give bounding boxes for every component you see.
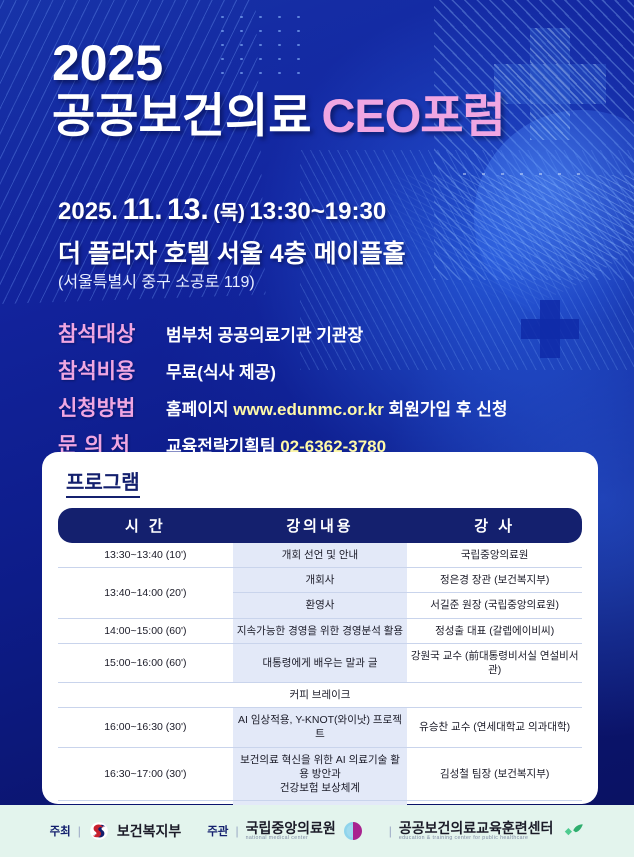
cell-time: 13:30~13:40 (10'): [58, 543, 233, 568]
event-poster: 2025 공공보건의료CEO포럼 2025. 11. 13. (목) 13:30…: [0, 0, 634, 857]
apply-prefix: 홈페이지: [166, 400, 233, 419]
cell-speaker: 강원국 교수 (前대통령비서실 연설비서관): [407, 643, 582, 682]
info-label-fee: 참석비용: [58, 355, 166, 385]
table-row: 14:00~15:00 (60') 지속가능한 경영을 위한 경영분석 활용 정…: [58, 618, 582, 643]
cell-content: 환영사: [233, 593, 408, 618]
info-value-fee: 무료(식사 제공): [166, 358, 276, 383]
cell-time: 14:00~15:00 (60'): [58, 618, 233, 643]
leaf-logo-icon: [560, 823, 584, 839]
government-taegeuk-icon: [88, 820, 110, 842]
apply-suffix: 회원가입 후 신청: [384, 400, 508, 419]
event-datetime: 2025. 11. 13. (목) 13:30~19:30: [58, 193, 386, 227]
cell-speaker: 정성출 대표 (갈렙에이비씨): [407, 618, 582, 643]
nmc-logo-icon: [343, 821, 363, 841]
program-card: 프로그램 시 간 강의내용 강 사 13:30~13:40 (10') 개회 선…: [42, 452, 598, 804]
dot-row-decoration: [455, 170, 595, 178]
cell-speaker: 정은경 장관 (보건복지부): [407, 568, 582, 593]
cell-time: 15:00~16:00 (60'): [58, 643, 233, 682]
info-value-audience: 범부처 공공의료기관 기관장: [166, 321, 363, 346]
medical-cross-small-icon: [521, 300, 579, 358]
center-name: 공공보건의료교육훈련센터: [399, 821, 554, 836]
event-time: 13:30~19:30: [249, 198, 386, 225]
center-name-group: 공공보건의료교육훈련센터 education & training center…: [399, 821, 554, 842]
table-row: 15:00~16:00 (60') 대통령에게 배우는 말과 글 강원국 교수 …: [58, 643, 582, 682]
center-separator: |: [389, 824, 392, 838]
cell-content: 대통령에게 배우는 말과 글: [233, 643, 408, 682]
host-name: 보건복지부: [117, 824, 181, 839]
hero-title: 공공보건의료CEO포럼: [52, 91, 612, 141]
cell-time: 16:00~16:30 (30'): [58, 708, 233, 747]
cell-speaker: 서길준 원장 (국립중앙의료원): [407, 593, 582, 618]
info-row-fee: 참석비용 무료(식사 제공): [58, 355, 507, 385]
registration-url[interactable]: www.edunmc.or.kr: [233, 400, 384, 419]
hero-title-accent: CEO포럼: [321, 89, 504, 142]
cell-content: 개회 선언 및 안내: [233, 543, 408, 568]
organizer-name: 국립중앙의료원: [246, 821, 336, 836]
table-row: 13:30~13:40 (10') 개회 선언 및 안내 국립중앙의료원: [58, 543, 582, 568]
program-title: 프로그램: [66, 466, 140, 498]
date-month: 11.: [123, 193, 163, 226]
host-separator: |: [78, 824, 81, 838]
cell-speaker: 유승찬 교수 (연세대학교 의과대학): [407, 708, 582, 747]
hero-title-main: 공공보건의료: [52, 89, 311, 142]
organizer-subtitle: national medical center: [246, 835, 336, 841]
table-row: 16:00~16:30 (30') AI 임상적용, Y-KNOT(와이낫) 프…: [58, 708, 582, 747]
host-tag: 주최: [50, 823, 71, 839]
organizer-separator: |: [235, 824, 238, 838]
venue-name: 더 플라자 호텔 서울 4층 메이플홀: [58, 234, 406, 270]
cell-speaker: 김성철 팀장 (보건복지부): [407, 747, 582, 801]
glow-circle-decoration: [474, 110, 634, 325]
info-row-apply: 신청방법 홈페이지 www.edunmc.or.kr 회원가입 후 신청: [58, 392, 507, 422]
host-block: 주최 | 보건복지부: [50, 820, 182, 842]
hero-year: 2025: [52, 38, 612, 89]
center-subtitle: education & training center for public h…: [399, 835, 554, 841]
info-label-audience: 참석대상: [58, 318, 166, 348]
program-header-row: 시 간 강의내용 강 사: [58, 508, 582, 543]
date-day: 13.: [167, 193, 209, 226]
organizer-name-group: 국립중앙의료원 national medical center: [246, 821, 336, 842]
program-table-head: 시 간 강의내용 강 사: [58, 508, 582, 543]
organizer-block: 주관 | 국립중앙의료원 national medical center: [207, 821, 362, 842]
date-weekday: (목): [213, 202, 245, 224]
cell-coffee-break: 커피 브레이크: [58, 683, 582, 708]
date-year: 2025.: [58, 198, 118, 225]
event-info-list: 참석대상 범부처 공공의료기관 기관장 참석비용 무료(식사 제공) 신청방법 …: [58, 318, 507, 466]
footer-logos: 주최 | 보건복지부 주관 | 국립중앙의료원 national medical…: [0, 805, 634, 857]
info-value-apply: 홈페이지 www.edunmc.or.kr 회원가입 후 신청: [166, 395, 507, 420]
table-row-break: 커피 브레이크: [58, 683, 582, 708]
venue-address: (서울특별시 중구 소공로 119): [58, 268, 255, 292]
cell-time: 13:40~14:00 (20'): [58, 568, 233, 618]
column-header-content: 강의내용: [233, 508, 408, 543]
organizer-tag: 주관: [207, 823, 228, 839]
cell-content: 지속가능한 경영을 위한 경영분석 활용: [233, 618, 408, 643]
cell-content: AI 임상적용, Y-KNOT(와이낫) 프로젝트: [233, 708, 408, 747]
cell-content: 개회사: [233, 568, 408, 593]
center-block: | 공공보건의료교육훈련센터 education & training cent…: [389, 821, 585, 842]
cell-speaker: 국립중앙의료원: [407, 543, 582, 568]
table-row: 16:30~17:00 (30') 보건의료 혁신을 위한 AI 의료기술 활용…: [58, 747, 582, 801]
table-row: 13:40~14:00 (20') 개회사 정은경 장관 (보건복지부): [58, 568, 582, 593]
column-header-time: 시 간: [58, 508, 233, 543]
cell-content: 보건의료 혁신을 위한 AI 의료기술 활용 방안과건강보험 보상체계: [233, 747, 408, 801]
info-row-audience: 참석대상 범부처 공공의료기관 기관장: [58, 318, 507, 348]
hero-heading: 2025 공공보건의료CEO포럼: [52, 38, 612, 141]
info-label-apply: 신청방법: [58, 392, 166, 422]
column-header-speaker: 강 사: [407, 508, 582, 543]
cell-time: 16:30~17:00 (30'): [58, 747, 233, 801]
